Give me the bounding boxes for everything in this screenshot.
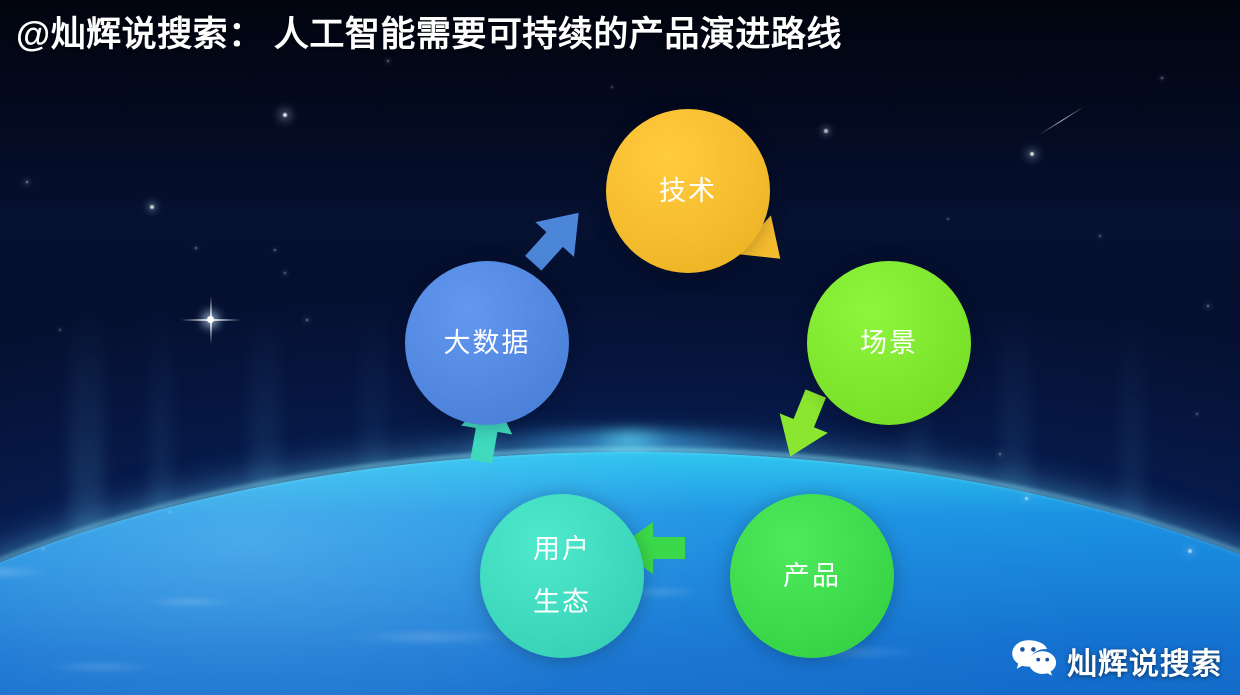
cycle-node-label: 场景 <box>860 317 918 370</box>
cycle-node-label: 大数据 <box>444 317 531 370</box>
page-title: @灿辉说搜索： 人工智能需要可持续的产品演进路线 <box>16 6 842 57</box>
cycle-node-user-ecosystem[interactable]: 用户生态 <box>480 494 644 658</box>
wechat-icon <box>1011 638 1057 683</box>
cycle-node-label: 用户 <box>533 523 591 576</box>
cycle-node-label: 产品 <box>783 550 841 603</box>
cycle-diagram: 技术场景产品用户生态大数据 <box>0 0 1240 695</box>
cycle-node-technology[interactable]: 技术 <box>606 109 770 273</box>
title-bar: @灿辉说搜索： 人工智能需要可持续的产品演进路线 <box>0 0 1240 62</box>
slide-canvas: @灿辉说搜索： 人工智能需要可持续的产品演进路线 技术场景产品用户生态大数据 灿… <box>0 0 1240 695</box>
cycle-node-big-data[interactable]: 大数据 <box>405 261 569 425</box>
cycle-node-scenario[interactable]: 场景 <box>807 261 971 425</box>
watermark: 灿辉说搜索 <box>1011 638 1222 683</box>
cycle-node-product[interactable]: 产品 <box>730 494 894 658</box>
cycle-node-label: 生态 <box>533 576 591 629</box>
watermark-label: 灿辉说搜索 <box>1067 639 1222 683</box>
cycle-node-label: 技术 <box>659 165 717 218</box>
